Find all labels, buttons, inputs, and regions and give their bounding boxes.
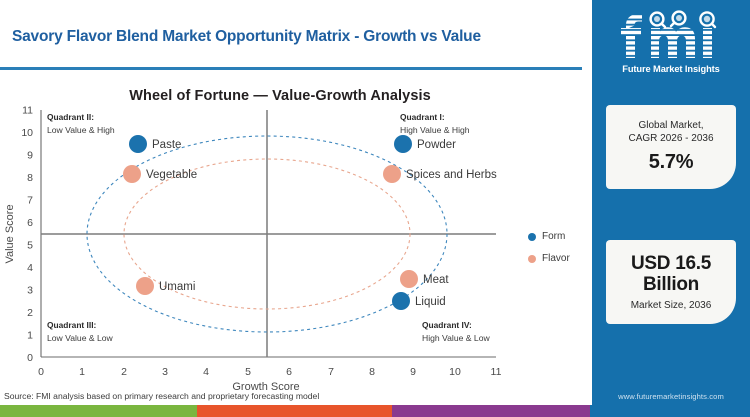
quadrant-2-title: Quadrant II:	[47, 112, 94, 122]
point-paste	[129, 135, 147, 153]
market-size-label: Market Size, 2036	[631, 300, 712, 311]
point-liquid	[392, 292, 410, 310]
svg-text:8: 8	[27, 172, 33, 184]
svg-text:11: 11	[22, 105, 33, 117]
point-liquid-label: Liquid	[415, 296, 446, 308]
footer-segment-purple	[392, 405, 590, 417]
point-spices-and-herbs	[383, 165, 401, 183]
svg-text:5: 5	[27, 240, 33, 252]
svg-text:7: 7	[328, 366, 334, 378]
fmi-logo-subtitle: Future Market Insights	[622, 64, 720, 74]
svg-text:9: 9	[27, 150, 33, 162]
cagr-value: 5.7%	[649, 151, 693, 174]
cagr-label-line1: Global Market,	[638, 120, 703, 133]
svg-text:4: 4	[27, 262, 33, 274]
point-powder	[394, 135, 412, 153]
svg-text:6: 6	[27, 217, 33, 229]
page-title: Savory Flavor Blend Market Opportunity M…	[0, 28, 481, 46]
main-content: Savory Flavor Blend Market Opportunity M…	[0, 0, 592, 417]
infographic-page: Savory Flavor Blend Market Opportunity M…	[0, 0, 750, 417]
fmi-logo: Future Market Insights	[592, 4, 750, 80]
quadrant-3-title: Quadrant III:	[47, 320, 96, 330]
source-note: Source: FMI analysis based on primary re…	[4, 391, 319, 401]
svg-text:4: 4	[203, 366, 209, 378]
series-flavor-points: Vegetable Spices and Herbs Umami Meat	[123, 165, 497, 295]
website-url[interactable]: www.futuremarketinsights.com	[592, 392, 750, 401]
svg-text:0: 0	[38, 366, 44, 378]
svg-text:0: 0	[27, 352, 33, 364]
chart-plot-area: 11 10 9 8 7 6 5 4 3 2 1 0 0 1 2	[0, 100, 592, 400]
quadrant-4-title: Quadrant IV:	[422, 320, 472, 330]
point-umami	[136, 277, 154, 295]
legend-label-form: Form	[542, 231, 565, 242]
svg-text:10: 10	[449, 366, 461, 378]
quadrant-4-desc: High Value & Low	[422, 333, 490, 343]
footer-segment-orange	[197, 405, 392, 417]
quadrant-2-desc: Low Value & High	[47, 125, 115, 135]
legend-label-flavor: Flavor	[542, 253, 570, 264]
market-size-value-line1: USD 16.5	[631, 253, 711, 274]
legend-item-form[interactable]: Form	[528, 231, 570, 242]
cagr-card: Global Market, CAGR 2026 - 2036 5.7%	[606, 105, 736, 189]
svg-text:8: 8	[369, 366, 375, 378]
legend-dot-form	[528, 233, 536, 241]
svg-text:1: 1	[27, 330, 33, 342]
svg-text:3: 3	[162, 366, 168, 378]
quadrant-1-title: Quadrant I:	[400, 112, 445, 122]
svg-text:3: 3	[27, 285, 33, 297]
market-size-value-line2: Billion	[643, 274, 699, 295]
fmi-logo-icon	[607, 10, 735, 62]
legend-dot-flavor	[528, 255, 536, 263]
point-vegetable	[123, 165, 141, 183]
svg-text:2: 2	[27, 307, 33, 319]
legend-item-flavor[interactable]: Flavor	[528, 253, 570, 264]
svg-text:5: 5	[245, 366, 251, 378]
point-spices-and-herbs-label: Spices and Herbs	[406, 169, 497, 181]
quadrant-1-desc: High Value & High	[400, 125, 470, 135]
point-meat	[400, 270, 418, 288]
scatter-svg: 11 10 9 8 7 6 5 4 3 2 1 0 0 1 2	[0, 100, 592, 400]
point-vegetable-label: Vegetable	[146, 169, 197, 181]
y-axis-label: Value Score	[4, 204, 16, 263]
header-bar: Savory Flavor Blend Market Opportunity M…	[0, 6, 582, 70]
svg-text:9: 9	[410, 366, 416, 378]
point-umami-label: Umami	[159, 281, 195, 293]
footer-segment-green	[0, 405, 197, 417]
svg-text:10: 10	[21, 127, 33, 139]
svg-text:11: 11	[491, 366, 502, 378]
point-powder-label: Powder	[417, 139, 456, 151]
cagr-label-line2: CAGR 2026 - 2036	[628, 133, 713, 146]
svg-text:1: 1	[79, 366, 85, 378]
footer-segment-blue	[590, 405, 750, 417]
svg-text:7: 7	[27, 195, 33, 207]
footer-color-bar	[0, 405, 750, 417]
chart-legend: Form Flavor	[528, 231, 570, 275]
point-meat-label: Meat	[423, 274, 449, 286]
x-tick-labels: 0 1 2 3 4 5 6 7 8 9 10 11	[38, 366, 502, 378]
svg-text:2: 2	[121, 366, 127, 378]
brand-sidebar: Future Market Insights Global Market, CA…	[592, 0, 750, 417]
market-size-card: USD 16.5 Billion Market Size, 2036	[606, 240, 736, 324]
quadrant-3-desc: Low Value & Low	[47, 333, 114, 343]
point-paste-label: Paste	[152, 139, 181, 151]
svg-text:6: 6	[286, 366, 292, 378]
y-tick-labels: 11 10 9 8 7 6 5 4 3 2 1 0	[21, 105, 33, 365]
